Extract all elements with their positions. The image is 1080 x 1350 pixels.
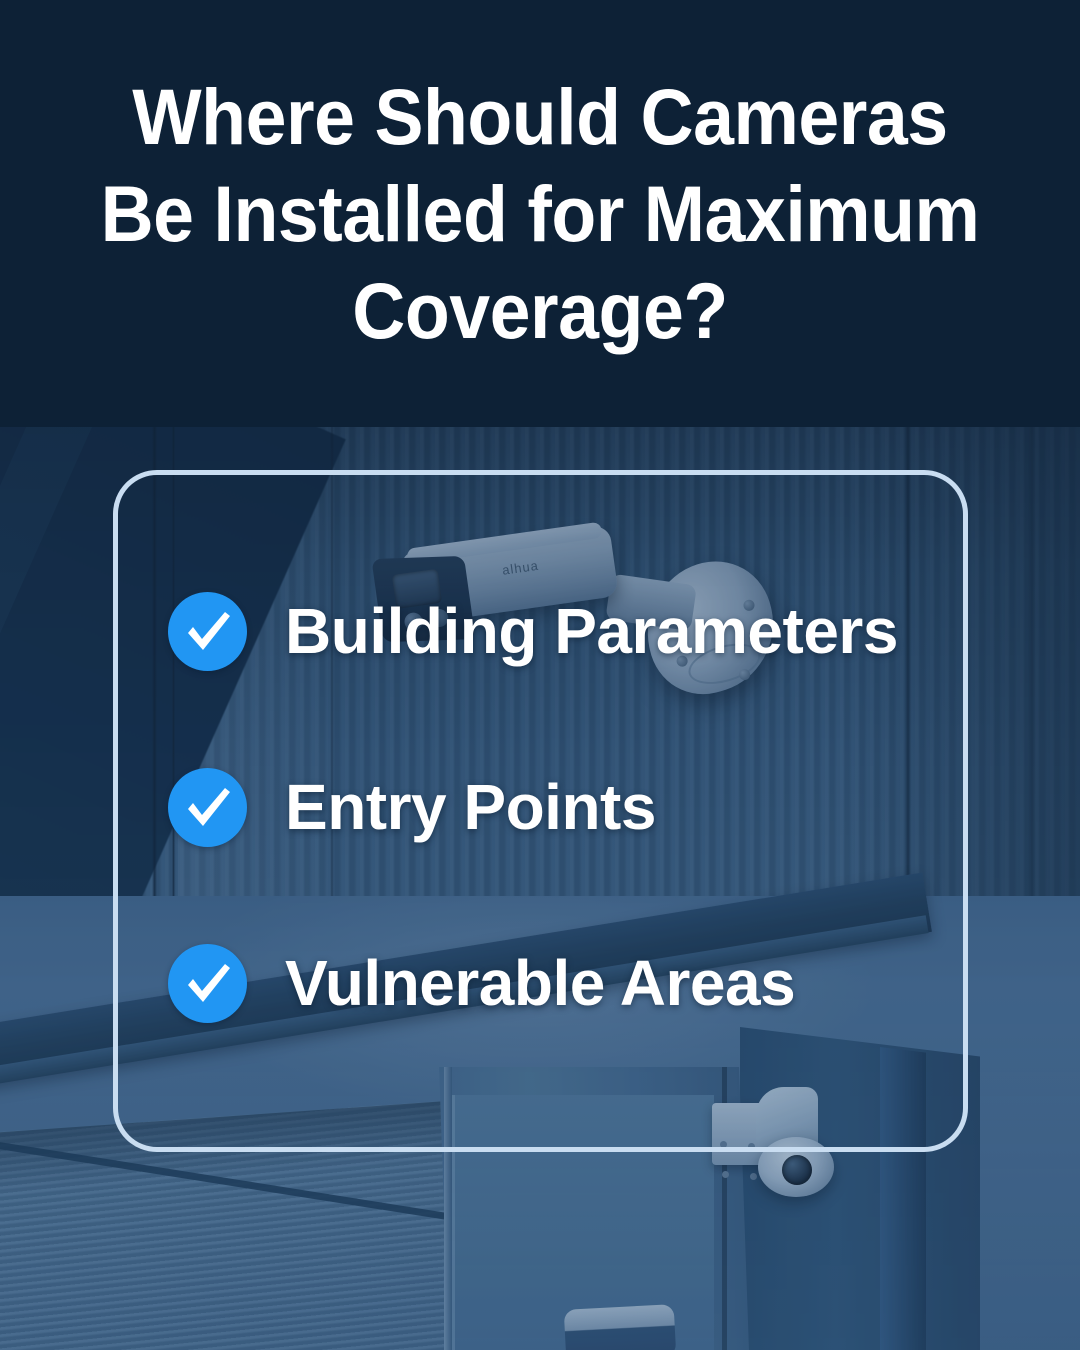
list-item-label: Building Parameters bbox=[285, 594, 898, 668]
page-title: Where Should Cameras Be Installed for Ma… bbox=[94, 68, 987, 359]
list-item[interactable]: Vulnerable Areas bbox=[168, 927, 1028, 1039]
checklist: Building Parameters Entry Points Vulnera… bbox=[168, 575, 1028, 1039]
list-item[interactable]: Entry Points bbox=[168, 751, 1028, 863]
poster-canvas: alhua bbox=[0, 0, 1080, 1350]
header-banner: Where Should Cameras Be Installed for Ma… bbox=[0, 0, 1080, 427]
check-circle-icon bbox=[168, 592, 247, 671]
list-item-label: Vulnerable Areas bbox=[285, 946, 795, 1020]
list-item[interactable]: Building Parameters bbox=[168, 575, 1028, 687]
list-item-label: Entry Points bbox=[285, 770, 656, 844]
check-circle-icon bbox=[168, 768, 247, 847]
check-circle-icon bbox=[168, 944, 247, 1023]
